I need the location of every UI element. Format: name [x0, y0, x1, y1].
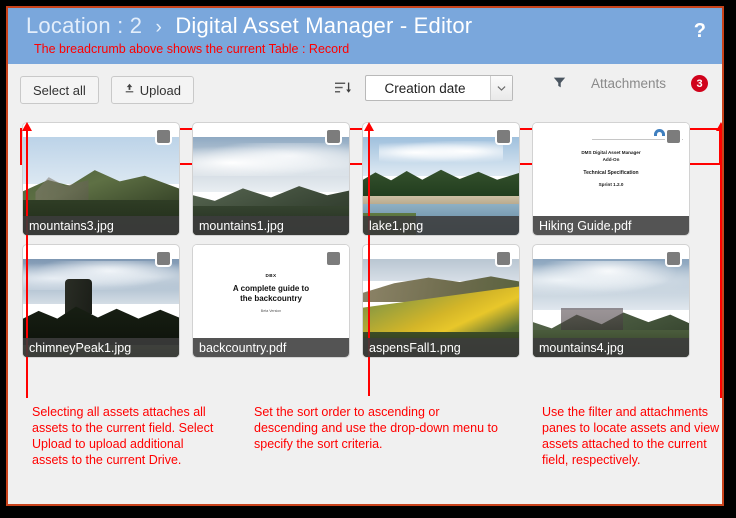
asset-select-checkbox[interactable] [665, 128, 682, 145]
pdf-line-1: DMS Digital Asset ManagerAdd-On [533, 150, 689, 164]
upload-label: Upload [140, 83, 181, 98]
asset-filename: aspensFall1.png [363, 338, 519, 357]
sort-criteria-value: Creation date [366, 81, 490, 96]
breadcrumb[interactable]: Location : 2 › Digital Asset Manager - E… [26, 13, 472, 39]
pdf-subtitle: Beta Version [193, 309, 349, 313]
asset-select-checkbox[interactable] [495, 250, 512, 267]
asset-card[interactable]: chimneyPeak1.jpg [22, 244, 180, 358]
select-all-label: Select all [33, 83, 86, 98]
asset-card[interactable]: mountains3.jpg [22, 122, 180, 236]
help-icon[interactable]: ? [694, 20, 706, 43]
upload-button[interactable]: Upload [111, 76, 194, 104]
breadcrumb-label: Location [26, 13, 111, 38]
asset-row: chimneyPeak1.jpg DBX A complete guide to… [8, 244, 722, 366]
asset-select-checkbox[interactable] [495, 128, 512, 145]
asset-filename: Hiking Guide.pdf [533, 216, 689, 235]
attachments-label: Attachments [576, 76, 681, 91]
annotation-arrow-left [26, 130, 28, 398]
asset-filename: backcountry.pdf [193, 338, 349, 357]
asset-card[interactable]: OrbeonForms DMS Digital Asset ManagerAdd… [532, 122, 690, 236]
sort-descending-icon[interactable] [333, 78, 353, 98]
pdf-line-3: Sprint 1.2.0 [533, 182, 689, 187]
asset-select-checkbox[interactable] [325, 128, 342, 145]
asset-row: mountains3.jpg mountains1.jpg [8, 122, 722, 244]
breadcrumb-colon: : [117, 13, 123, 38]
asset-filename: mountains4.jpg [533, 338, 689, 357]
asset-card[interactable]: aspensFall1.png [362, 244, 520, 358]
asset-toolbar: Select all Upload [8, 64, 722, 116]
header-annotation: The breadcrumb above shows the current T… [34, 42, 349, 56]
asset-select-checkbox[interactable] [325, 250, 342, 267]
toolbar-attachments-group[interactable]: Attachments 3 [553, 75, 708, 92]
upload-icon [124, 83, 135, 97]
asset-select-checkbox[interactable] [155, 250, 172, 267]
sort-criteria-select[interactable]: Creation date [365, 75, 513, 101]
asset-filename: mountains3.jpg [23, 216, 179, 235]
asset-card[interactable]: lake1.png [362, 122, 520, 236]
chevron-down-icon[interactable] [490, 76, 512, 100]
annotation-text-right: Use the filter and attachments panes to … [542, 404, 722, 468]
asset-select-checkbox[interactable] [665, 250, 682, 267]
breadcrumb-separator-icon: › [148, 17, 169, 38]
toolbar-left-group: Select all Upload [20, 76, 194, 104]
asset-filename: mountains1.jpg [193, 216, 349, 235]
asset-filename: lake1.png [363, 216, 519, 235]
app-frame: Location : 2 › Digital Asset Manager - E… [6, 6, 724, 506]
pdf-preview-body: DMS Digital Asset ManagerAdd-On Technica… [533, 150, 689, 187]
pdf-line-2: Technical Specification [533, 170, 689, 176]
pdf-preview-body: DBX A complete guide tothe backcountry B… [193, 273, 349, 313]
asset-card[interactable]: mountains4.jpg [532, 244, 690, 358]
annotation-arrow-right [720, 130, 722, 398]
asset-grid: mountains3.jpg mountains1.jpg [8, 116, 722, 366]
pdf-brand: DBX [193, 273, 349, 278]
screenshot-root: Location : 2 › Digital Asset Manager - E… [0, 0, 736, 518]
funnel-icon[interactable] [553, 76, 566, 92]
pdf-title: A complete guide tothe backcountry [193, 284, 349, 304]
toolbar-sort-group: Creation date [333, 75, 513, 101]
select-all-button[interactable]: Select all [20, 76, 99, 104]
asset-card[interactable]: DBX A complete guide tothe backcountry B… [192, 244, 350, 358]
breadcrumb-value: 2 [130, 13, 142, 38]
annotation-text-left: Selecting all assets attaches all assets… [32, 404, 222, 468]
page-title: Digital Asset Manager - Editor [175, 13, 472, 38]
annotation-text-middle: Set the sort order to ascending or desce… [254, 404, 504, 452]
asset-card[interactable]: mountains1.jpg [192, 122, 350, 236]
asset-select-checkbox[interactable] [155, 128, 172, 145]
asset-filename: chimneyPeak1.jpg [23, 338, 179, 357]
app-header: Location : 2 › Digital Asset Manager - E… [8, 8, 722, 64]
attachments-count-badge: 3 [691, 75, 708, 92]
